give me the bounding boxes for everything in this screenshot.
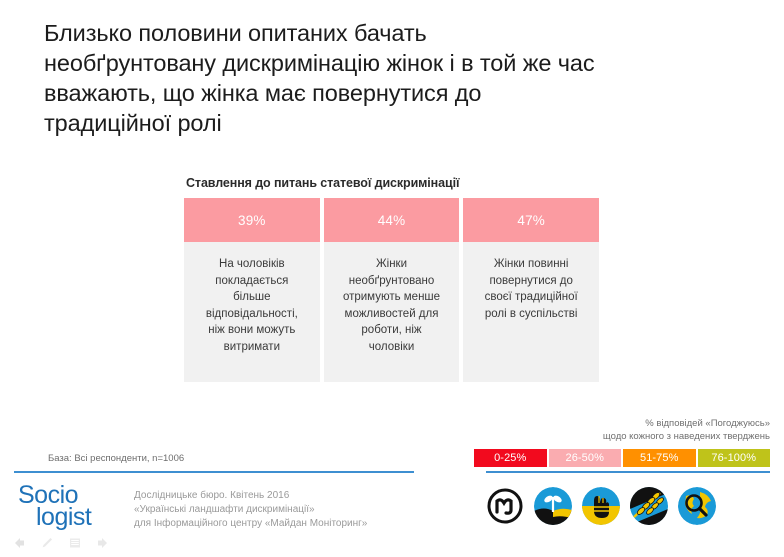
- base-note: База: Всі респонденти, n=1006: [48, 453, 184, 464]
- sprout-field-logo: [534, 487, 572, 525]
- mini-toolbar: [12, 536, 110, 550]
- raised-fist-logo: [582, 487, 620, 525]
- statement-text: Жінки необґрунтовано отримують менше мож…: [324, 242, 460, 382]
- legend-item-76-100[interactable]: 76-100%: [698, 449, 771, 467]
- chart-column[interactable]: 47% Жінки повинні повернутися до своєї т…: [463, 198, 599, 382]
- legend-item-26-50[interactable]: 26-50%: [549, 449, 622, 467]
- chart-column[interactable]: 44% Жінки необґрунтовано отримують менше…: [324, 198, 460, 382]
- sociologist-logo: Socio logist: [18, 484, 128, 530]
- chart-columns: 39% На чоловіків покладається більше від…: [184, 198, 599, 382]
- legend-item-51-75[interactable]: 51-75%: [623, 449, 696, 467]
- chart-heading: Ставлення до питань статевої дискримінац…: [186, 176, 599, 190]
- forward-arrow-icon[interactable]: [96, 536, 110, 550]
- wheat-ear-logo: [630, 487, 668, 525]
- statement-value-badge: 47%: [463, 198, 599, 242]
- legend-swatches: 0-25% 26-50% 51-75% 76-100%: [474, 449, 770, 467]
- legend: % відповідей «Погоджуюсь» щодо кожного з…: [474, 418, 770, 467]
- globe-magnifier-logo: [678, 487, 716, 525]
- chart-block: Ставлення до питань статевої дискримінац…: [184, 176, 599, 382]
- statement-value-badge: 39%: [184, 198, 320, 242]
- divider-right: [486, 471, 770, 473]
- logo-line-2: logist: [18, 506, 128, 528]
- maidan-monitoring-logo: [486, 487, 524, 525]
- pen-icon[interactable]: [40, 536, 54, 550]
- partner-logos: [486, 487, 716, 525]
- back-arrow-icon[interactable]: [12, 536, 26, 550]
- divider-left: [14, 471, 414, 473]
- legend-caption: % відповідей «Погоджуюсь» щодо кожного з…: [474, 418, 770, 443]
- page-icon[interactable]: [68, 536, 82, 550]
- chart-column[interactable]: 39% На чоловіків покладається більше від…: [184, 198, 320, 382]
- statement-text: На чоловіків покладається більше відпові…: [184, 242, 320, 382]
- legend-item-0-25[interactable]: 0-25%: [474, 449, 547, 467]
- footer-credits: Дослідницьке бюро. Квітень 2016 «Українс…: [134, 489, 367, 531]
- page-title: Близько половини опитаних бачать необґру…: [44, 18, 744, 138]
- statement-text: Жінки повинні повернутися до своєї тради…: [463, 242, 599, 382]
- statement-value-badge: 44%: [324, 198, 460, 242]
